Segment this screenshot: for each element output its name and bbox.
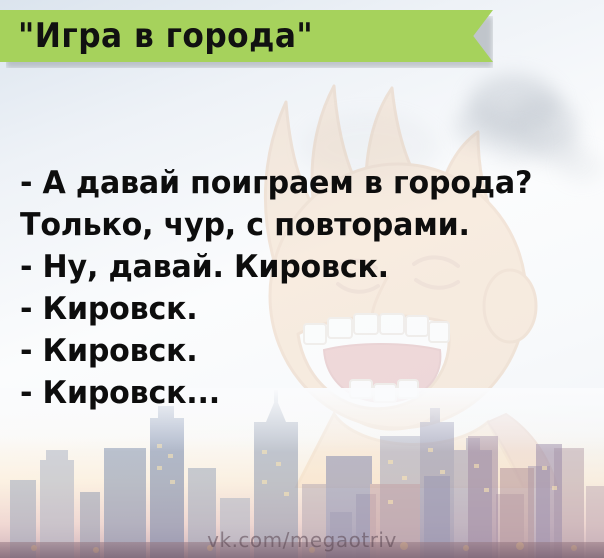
cloud-blob [492,128,538,162]
joke-line: Только, чур, с повторами. [20,204,583,246]
joke-text-block: - А давай поиграем в города? Только, чур… [20,162,600,414]
title-banner: "Игра в города" [0,10,493,62]
meme-image: "Игра в города" - А давай поиграем в гор… [0,0,604,558]
joke-line: - А давай поиграем в города? [20,162,583,204]
joke-line: - Ну, давай. Кировск. [20,246,583,288]
watermark: vk.com/megaotriv [0,528,604,552]
joke-line: - Кировск. [20,330,583,372]
banner-title-text: "Игра в города" [18,16,313,56]
joke-line: - Кировск. [20,288,583,330]
joke-line: - Кировск... [20,372,583,414]
